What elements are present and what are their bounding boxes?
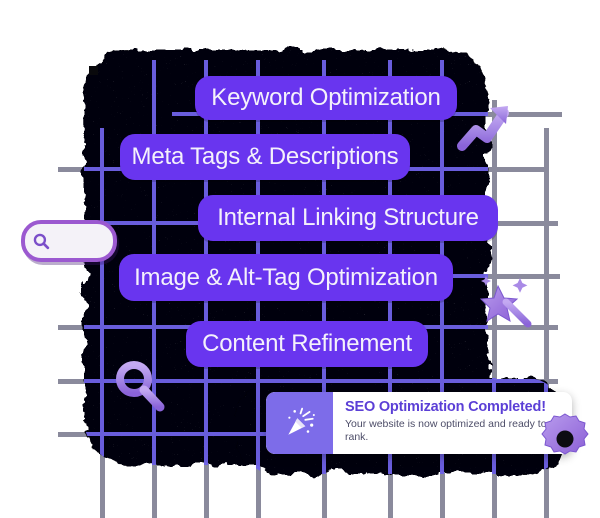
notification-thumbnail — [266, 392, 333, 454]
party-popper-icon — [283, 406, 317, 440]
illustration-canvas: Keyword Optimization Meta Tags & Descrip… — [0, 0, 600, 518]
pill-label: Internal Linking Structure — [217, 204, 479, 232]
pill-label: Meta Tags & Descriptions — [132, 143, 399, 171]
checklist-pill-keyword-optimization[interactable]: Keyword Optimization — [195, 76, 457, 120]
gear-icon — [538, 412, 592, 466]
search-bar-chip[interactable] — [21, 220, 117, 262]
checklist-pill-internal-linking[interactable]: Internal Linking Structure — [198, 195, 498, 241]
notification-body: SEO Optimization Completed! Your website… — [333, 392, 572, 454]
notification-title: SEO Optimization Completed! — [345, 399, 562, 416]
checklist-pill-meta-tags[interactable]: Meta Tags & Descriptions — [120, 134, 410, 180]
magnifier-icon — [32, 232, 51, 251]
trending-up-arrow-icon — [456, 96, 518, 158]
magic-wand-star-icon — [480, 272, 538, 330]
pill-label: Image & Alt-Tag Optimization — [134, 264, 438, 292]
checklist-pill-content-refinement[interactable]: Content Refinement — [186, 321, 428, 367]
notification-toast[interactable]: SEO Optimization Completed! Your website… — [266, 392, 572, 454]
pill-label: Keyword Optimization — [211, 84, 440, 112]
magnifier-icon — [112, 358, 168, 414]
stray-pixel-artifact — [89, 66, 98, 75]
checklist-pill-image-alt-tag[interactable]: Image & Alt-Tag Optimization — [119, 254, 453, 301]
notification-subtitle: Your website is now optimized and ready … — [345, 418, 562, 443]
pill-label: Content Refinement — [202, 330, 412, 358]
